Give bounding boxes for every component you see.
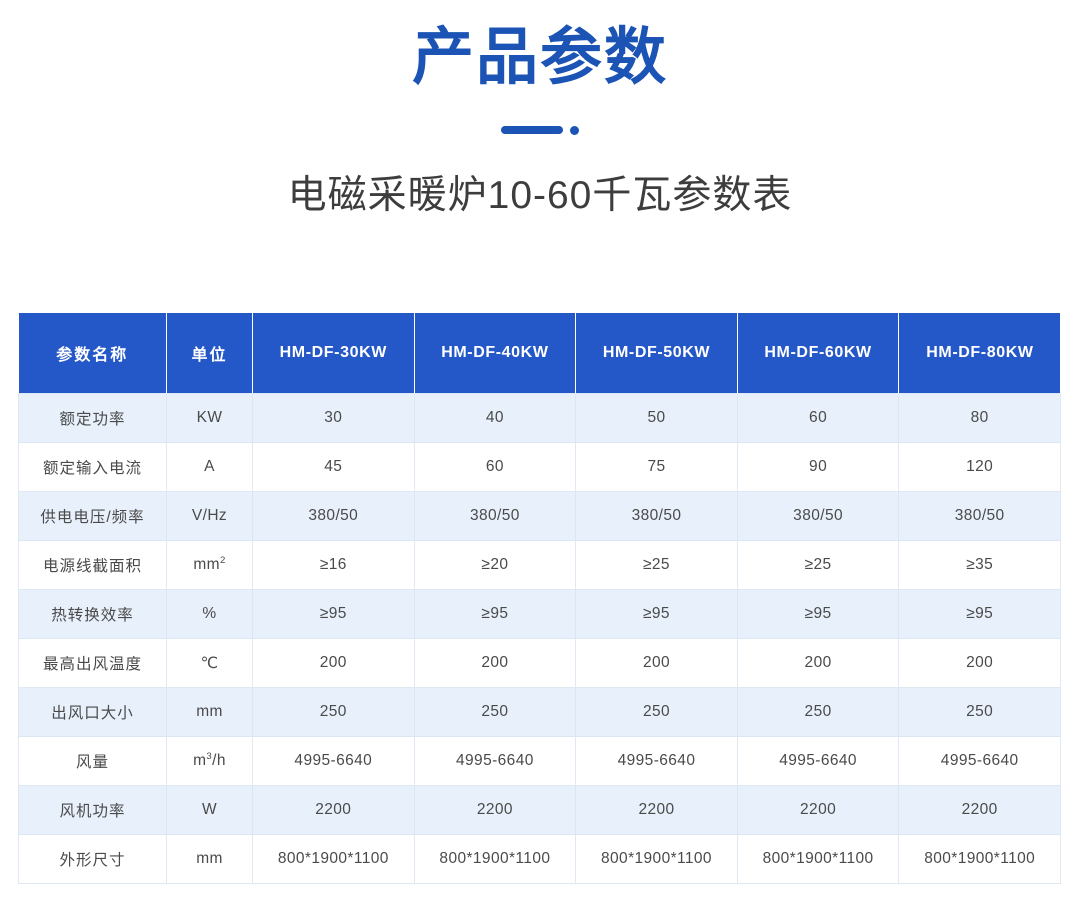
param-name-cell: 出风口大小 (19, 688, 167, 737)
column-header-model-30kw: HM-DF-30KW (253, 313, 415, 394)
table-row: 外形尺寸mm800*1900*1100800*1900*1100800*1900… (19, 835, 1061, 884)
param-name-cell: 最高出风温度 (19, 639, 167, 688)
param-name-cell: 额定功率 (19, 394, 167, 443)
page-header: 产品参数 电磁采暖炉10-60千瓦参数表 (0, 0, 1080, 220)
param-unit-cell: mm (167, 688, 253, 737)
param-value-cell: 200 (253, 639, 415, 688)
param-value-cell: ≥25 (737, 541, 899, 590)
param-value-cell: 75 (576, 443, 738, 492)
param-value-cell: ≥20 (414, 541, 576, 590)
param-value-cell: 4995-6640 (899, 737, 1061, 786)
table-row: 风量m3/h4995-66404995-66404995-66404995-66… (19, 737, 1061, 786)
spec-table-body: 额定功率KW3040506080额定输入电流A45607590120供电电压/频… (19, 394, 1061, 884)
param-value-cell: 4995-6640 (737, 737, 899, 786)
param-name-cell: 外形尺寸 (19, 835, 167, 884)
param-value-cell: 4995-6640 (576, 737, 738, 786)
param-value-cell: 380/50 (576, 492, 738, 541)
param-value-cell: 80 (899, 394, 1061, 443)
param-value-cell: 380/50 (737, 492, 899, 541)
param-name-cell: 供电电压/频率 (19, 492, 167, 541)
param-unit-cell: % (167, 590, 253, 639)
param-value-cell: 4995-6640 (414, 737, 576, 786)
param-value-cell: 250 (576, 688, 738, 737)
param-value-cell: 50 (576, 394, 738, 443)
unit-tail: /h (212, 753, 226, 770)
column-header-model-40kw: HM-DF-40KW (414, 313, 576, 394)
param-value-cell: 200 (737, 639, 899, 688)
param-value-cell: 2200 (737, 786, 899, 835)
accent-bar-icon (501, 126, 563, 134)
param-unit-cell: A (167, 443, 253, 492)
table-row: 风机功率W22002200220022002200 (19, 786, 1061, 835)
spec-table: 参数名称 单位 HM-DF-30KW HM-DF-40KW HM-DF-50KW… (18, 313, 1061, 884)
table-row: 最高出风温度℃200200200200200 (19, 639, 1061, 688)
param-value-cell: 380/50 (414, 492, 576, 541)
product-spec-page: 产品参数 电磁采暖炉10-60千瓦参数表 参数名称 单位 HM-DF- (0, 0, 1080, 914)
param-value-cell: ≥25 (576, 541, 738, 590)
unit-base: m (193, 753, 206, 770)
table-header-row: 参数名称 单位 HM-DF-30KW HM-DF-40KW HM-DF-50KW… (19, 313, 1061, 394)
spec-table-head: 参数名称 单位 HM-DF-30KW HM-DF-40KW HM-DF-50KW… (19, 313, 1061, 394)
param-value-cell: 200 (576, 639, 738, 688)
param-value-cell: ≥95 (576, 590, 738, 639)
param-name-cell: 热转换效率 (19, 590, 167, 639)
spec-table-container: 参数名称 单位 HM-DF-30KW HM-DF-40KW HM-DF-50KW… (18, 313, 1060, 884)
param-value-cell: 380/50 (899, 492, 1061, 541)
param-value-cell: 2200 (253, 786, 415, 835)
param-value-cell: ≥95 (253, 590, 415, 639)
column-header-model-50kw: HM-DF-50KW (576, 313, 738, 394)
param-value-cell: 800*1900*1100 (414, 835, 576, 884)
param-value-cell: ≥95 (414, 590, 576, 639)
title-accent-divider (0, 125, 1080, 135)
param-value-cell: 250 (253, 688, 415, 737)
param-value-cell: 380/50 (253, 492, 415, 541)
param-value-cell: 2200 (576, 786, 738, 835)
param-unit-cell: mm (167, 835, 253, 884)
column-header-model-80kw: HM-DF-80KW (899, 313, 1061, 394)
param-name-cell: 额定输入电流 (19, 443, 167, 492)
table-row: 额定输入电流A45607590120 (19, 443, 1061, 492)
param-value-cell: 60 (737, 394, 899, 443)
column-header-unit: 单位 (167, 313, 253, 394)
param-unit-cell: V/Hz (167, 492, 253, 541)
table-row: 电源线截面积mm2≥16≥20≥25≥25≥35 (19, 541, 1061, 590)
param-value-cell: 250 (414, 688, 576, 737)
accent-dot-icon (570, 126, 579, 135)
param-unit-cell: W (167, 786, 253, 835)
column-header-param-name: 参数名称 (19, 313, 167, 394)
param-value-cell: 200 (899, 639, 1061, 688)
table-row: 额定功率KW3040506080 (19, 394, 1061, 443)
param-value-cell: 800*1900*1100 (737, 835, 899, 884)
param-value-cell: ≥95 (737, 590, 899, 639)
param-value-cell: 800*1900*1100 (899, 835, 1061, 884)
table-row: 出风口大小mm250250250250250 (19, 688, 1061, 737)
param-value-cell: 800*1900*1100 (576, 835, 738, 884)
param-value-cell: 4995-6640 (253, 737, 415, 786)
param-value-cell: ≥95 (899, 590, 1061, 639)
param-value-cell: 30 (253, 394, 415, 443)
column-header-model-60kw: HM-DF-60KW (737, 313, 899, 394)
page-subtitle: 电磁采暖炉10-60千瓦参数表 (0, 135, 1080, 220)
param-value-cell: 60 (414, 443, 576, 492)
param-unit-cell: ℃ (167, 639, 253, 688)
unit-superscript: 2 (220, 555, 226, 566)
param-value-cell: ≥35 (899, 541, 1061, 590)
param-unit-cell: m3/h (167, 737, 253, 786)
param-value-cell: 45 (253, 443, 415, 492)
param-value-cell: 200 (414, 639, 576, 688)
page-title: 产品参数 (0, 22, 1080, 91)
param-value-cell: ≥16 (253, 541, 415, 590)
unit-base: mm (193, 557, 220, 574)
param-unit-cell: KW (167, 394, 253, 443)
param-value-cell: 250 (737, 688, 899, 737)
param-value-cell: 250 (899, 688, 1061, 737)
param-value-cell: 120 (899, 443, 1061, 492)
param-name-cell: 风量 (19, 737, 167, 786)
param-unit-cell: mm2 (167, 541, 253, 590)
param-value-cell: 800*1900*1100 (253, 835, 415, 884)
param-name-cell: 电源线截面积 (19, 541, 167, 590)
param-value-cell: 2200 (414, 786, 576, 835)
param-value-cell: 40 (414, 394, 576, 443)
table-row: 热转换效率%≥95≥95≥95≥95≥95 (19, 590, 1061, 639)
param-value-cell: 2200 (899, 786, 1061, 835)
param-name-cell: 风机功率 (19, 786, 167, 835)
table-row: 供电电压/频率V/Hz380/50380/50380/50380/50380/5… (19, 492, 1061, 541)
param-value-cell: 90 (737, 443, 899, 492)
